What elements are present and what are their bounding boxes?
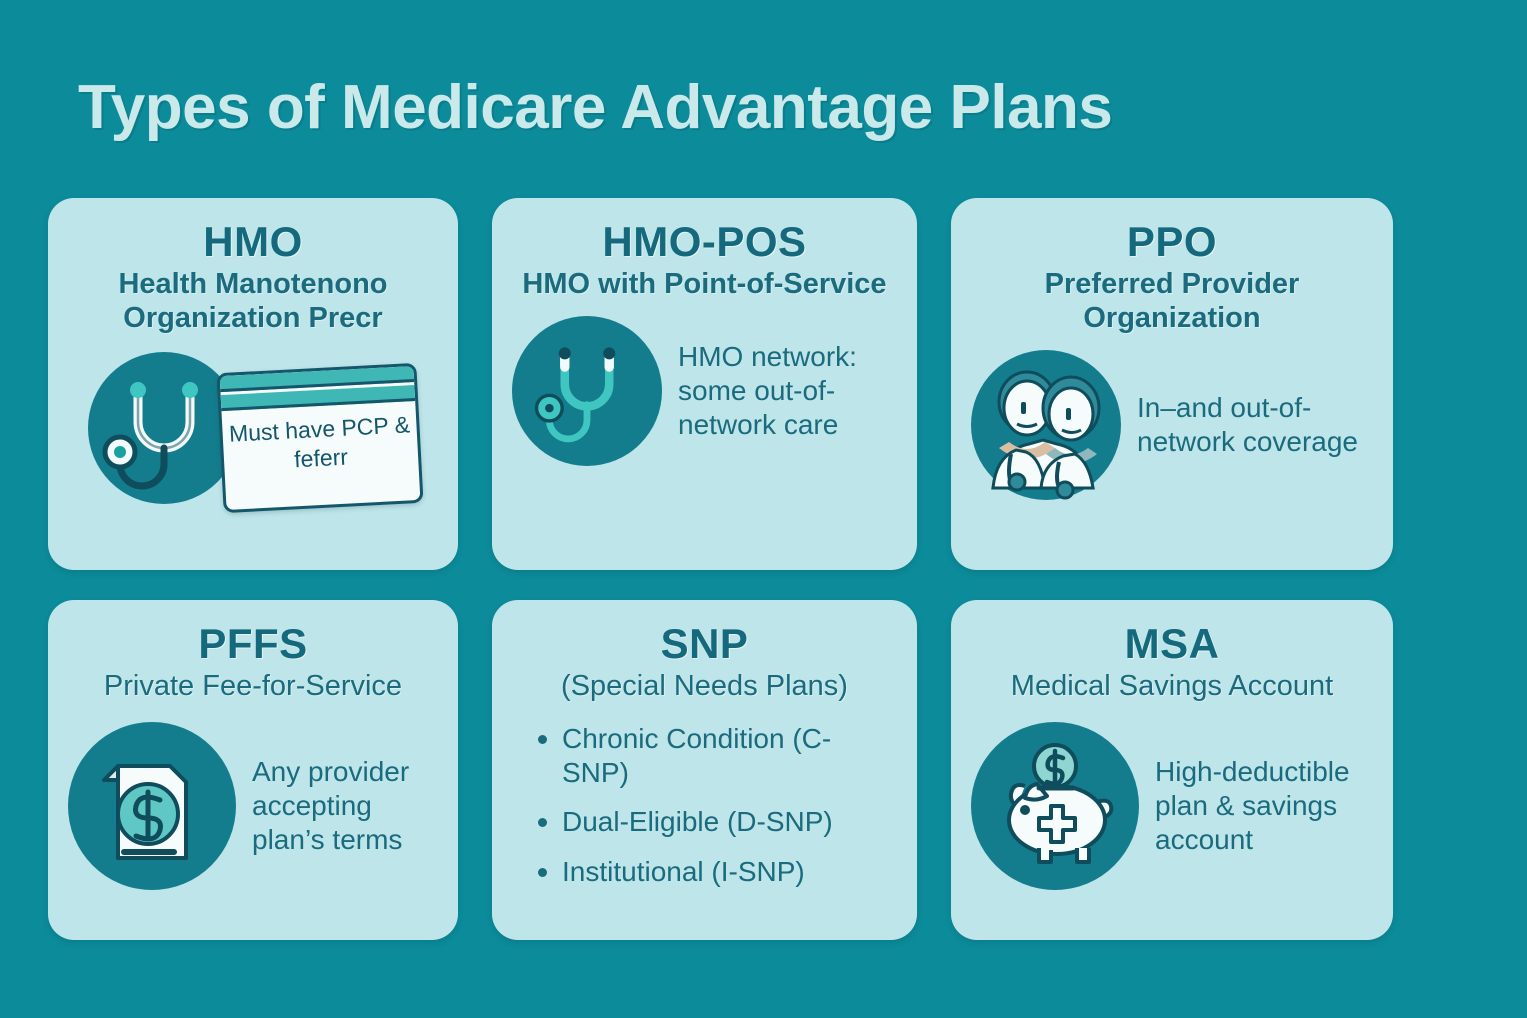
plan-card-pffs: PFFS Private Fee-for-Service [48,600,458,940]
plan-card-msa-title: MSA [971,622,1373,666]
infographic-page: Types of Medicare Advantage Plans HMO He… [0,0,1527,1018]
two-doctors-icon [971,350,1121,500]
plan-card-pffs-title: PFFS [68,622,438,666]
hmo-note-card: Must have PCP & feferr [216,363,423,513]
plan-card-snp-bullets: Chronic Condition (C-SNP) Dual-Eligible … [512,722,897,888]
plan-card-snp: SNP (Special Needs Plans) Chronic Condit… [492,600,917,940]
plan-card-pffs-subtitle: Private Fee-for-Service [68,670,438,704]
page-title: Types of Medicare Advantage Plans [78,72,1112,143]
list-item: Dual-Eligible (D-SNP) [538,805,897,839]
plan-card-hmo-pos-subtitle: HMO with Point-of-Service [512,268,897,302]
plan-card-msa-body: High-deductible plan & savings account [971,722,1373,890]
plan-card-ppo-subtitle: Preferred Provider Organization [971,268,1373,336]
list-item: Chronic Condition (C-SNP) [538,722,897,789]
plan-card-msa-subtitle: Medical Savings Account [971,670,1373,704]
list-item: Institutional (I-SNP) [538,855,897,889]
hmo-note-text: Must have PCP & feferr [222,410,419,478]
plan-card-hmo-body: Must have PCP & feferr [68,348,438,528]
plan-cards-grid: HMO Health Manotenono Organization Precr [48,198,1393,940]
plan-card-ppo-detail: In–and out-of-network coverage [1137,391,1373,459]
plan-card-hmo-pos: HMO-POS HMO with Point-of-Service H [492,198,917,570]
plan-card-msa-detail: High-deductible plan & savings account [1155,755,1373,857]
stethoscope-icon [88,352,240,504]
plan-card-pffs-body: Any provider accepting plan’s terms [68,722,438,890]
plan-card-hmo: HMO Health Manotenono Organization Precr [48,198,458,570]
stethoscope-icon [512,316,662,466]
plan-card-hmo-pos-detail: HMO network: some out-of-network care [678,340,897,442]
plan-card-hmo-pos-body: HMO network: some out-of-network care [512,316,897,466]
plan-card-pffs-detail: Any provider accepting plan’s terms [252,755,438,857]
plan-card-snp-title: SNP [512,622,897,666]
plan-card-ppo-body: In–and out-of-network coverage [971,350,1373,500]
plan-card-hmo-title: HMO [68,220,438,264]
document-dollar-icon [68,722,236,890]
plan-card-msa: MSA Medical Savings Account [951,600,1393,940]
piggy-bank-icon [971,722,1139,890]
plan-card-snp-subtitle: (Special Needs Plans) [512,670,897,704]
plan-card-ppo: PPO Preferred Provider Organization [951,198,1393,570]
plan-card-ppo-title: PPO [971,220,1373,264]
plan-card-hmo-subtitle: Health Manotenono Organization Precr [68,268,438,336]
plan-card-hmo-pos-title: HMO-POS [512,220,897,264]
